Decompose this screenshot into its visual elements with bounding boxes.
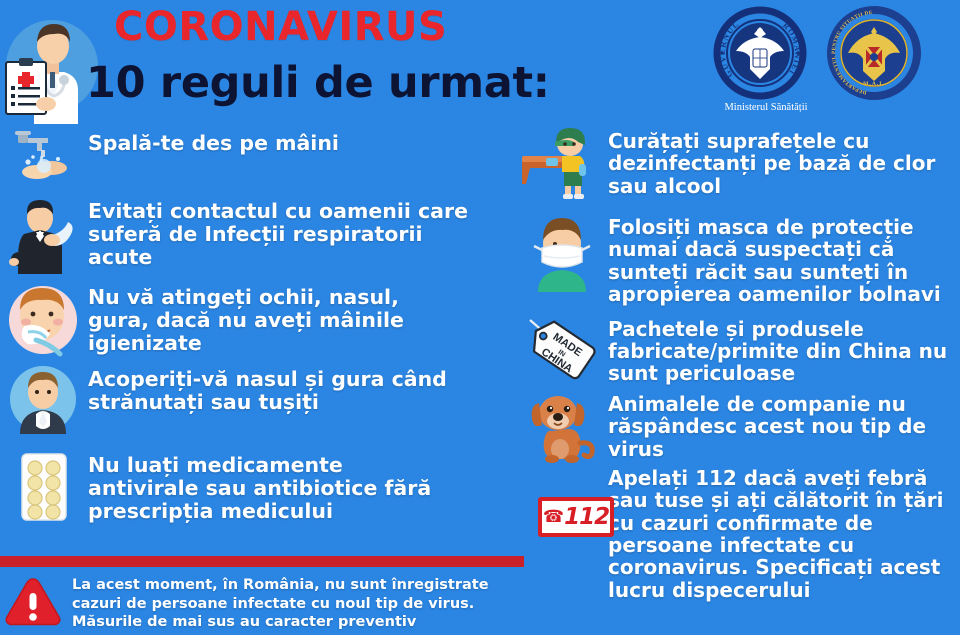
- man-covering-sneeze-icon: [6, 364, 80, 434]
- rules-right-column: Curățați suprafețele cu dezinfectanți pe…: [510, 128, 960, 603]
- man-coughing-icon: [6, 196, 80, 274]
- footer-disclaimer: La acest moment, în România, nu sunt înr…: [0, 572, 520, 635]
- rule-text: Curățați suprafețele cu dezinfectanți pe…: [608, 130, 935, 197]
- rule-text: Nu luați medicamente antivirale sau anti…: [88, 454, 431, 523]
- warning-triangle-icon: [4, 576, 62, 628]
- red-divider: [0, 556, 524, 567]
- rule-item: Evitați contactul cu oamenii care suferă…: [0, 196, 500, 274]
- coronavirus-infographic: CORONAVIRUS 10 reguli de urmat:: [0, 0, 960, 635]
- header: CORONAVIRUS 10 reguli de urmat:: [0, 0, 960, 128]
- rules-left-column: Spală-te des pe mâini Evitați contactul …: [0, 128, 500, 528]
- rule-text: Acoperiți-vă nasul și gura când strănuta…: [88, 368, 447, 414]
- rule-item: Nu vă atingeți ochii, nasul, gura, dacă …: [0, 282, 500, 358]
- rule-text: Nu vă atingeți ochii, nasul, gura, dacă …: [88, 286, 404, 355]
- rule-item: Curățați suprafețele cu dezinfectanți pe…: [510, 128, 960, 200]
- seals-group: GUVERNUL ROMÂNIEI: [710, 5, 946, 123]
- rule-text: Spală-te des pe mâini: [88, 132, 339, 155]
- rule-text: Apelați 112 dacă aveți febră sau tuse și…: [608, 467, 944, 601]
- child-touching-face-icon: [6, 282, 80, 358]
- rule-text: Pachetele și produsele fabricate/primite…: [608, 318, 947, 385]
- rule-item: Nu luați medicamente antivirale sau anti…: [0, 450, 500, 524]
- page-title: CORONAVIRUS: [114, 4, 447, 50]
- child-cleaning-surface-icon: [522, 128, 602, 200]
- phone-handset-icon: ☎: [543, 507, 563, 527]
- emergency-112-badge-icon[interactable]: ☎112: [522, 467, 602, 537]
- emergency-department-seal: DEPARTAMENTUL PENTRU SITUAȚII DE URGENȚĂ…: [828, 7, 920, 99]
- rule-text: Evitați contactul cu oamenii care suferă…: [88, 200, 468, 269]
- page-subtitle: 10 reguli de urmat:: [86, 58, 550, 108]
- puppy-dog-icon: [522, 391, 602, 463]
- rule-text: Folosiți masca de protecție numai dacă s…: [608, 216, 941, 306]
- ministry-label: Ministerul Sănătății: [710, 102, 822, 113]
- footer-text: La acest moment, în România, nu sunt înr…: [72, 576, 489, 632]
- rule-item: Folosiți masca de protecție numai dacă s…: [510, 214, 960, 306]
- rule-item: MADE IN CHINA Pachetele și produsele fab…: [510, 316, 960, 385]
- pill-blister-pack-icon: [6, 450, 80, 524]
- svg-text:M.A.I.: M.A.I.: [863, 81, 885, 87]
- made-in-china-tag-icon: MADE IN CHINA: [522, 316, 602, 382]
- handwashing-faucet-icon: [6, 128, 80, 184]
- government-of-romania-seal: GUVERNUL ROMÂNIEI: [714, 7, 806, 99]
- rule-item: ☎112 Apelați 112 dacă aveți febră sau tu…: [510, 467, 960, 601]
- rule-item: Acoperiți-vă nasul și gura când strănuta…: [0, 364, 500, 434]
- rule-item: Spală-te des pe mâini: [0, 128, 500, 184]
- emergency-number-badge[interactable]: ☎112: [538, 497, 614, 537]
- person-wearing-mask-icon: [522, 214, 602, 292]
- emergency-number-label: 112: [564, 504, 609, 530]
- rule-text: Animalele de companie nu răspândesc aces…: [608, 393, 926, 460]
- rule-item: Animalele de companie nu răspândesc aces…: [510, 391, 960, 463]
